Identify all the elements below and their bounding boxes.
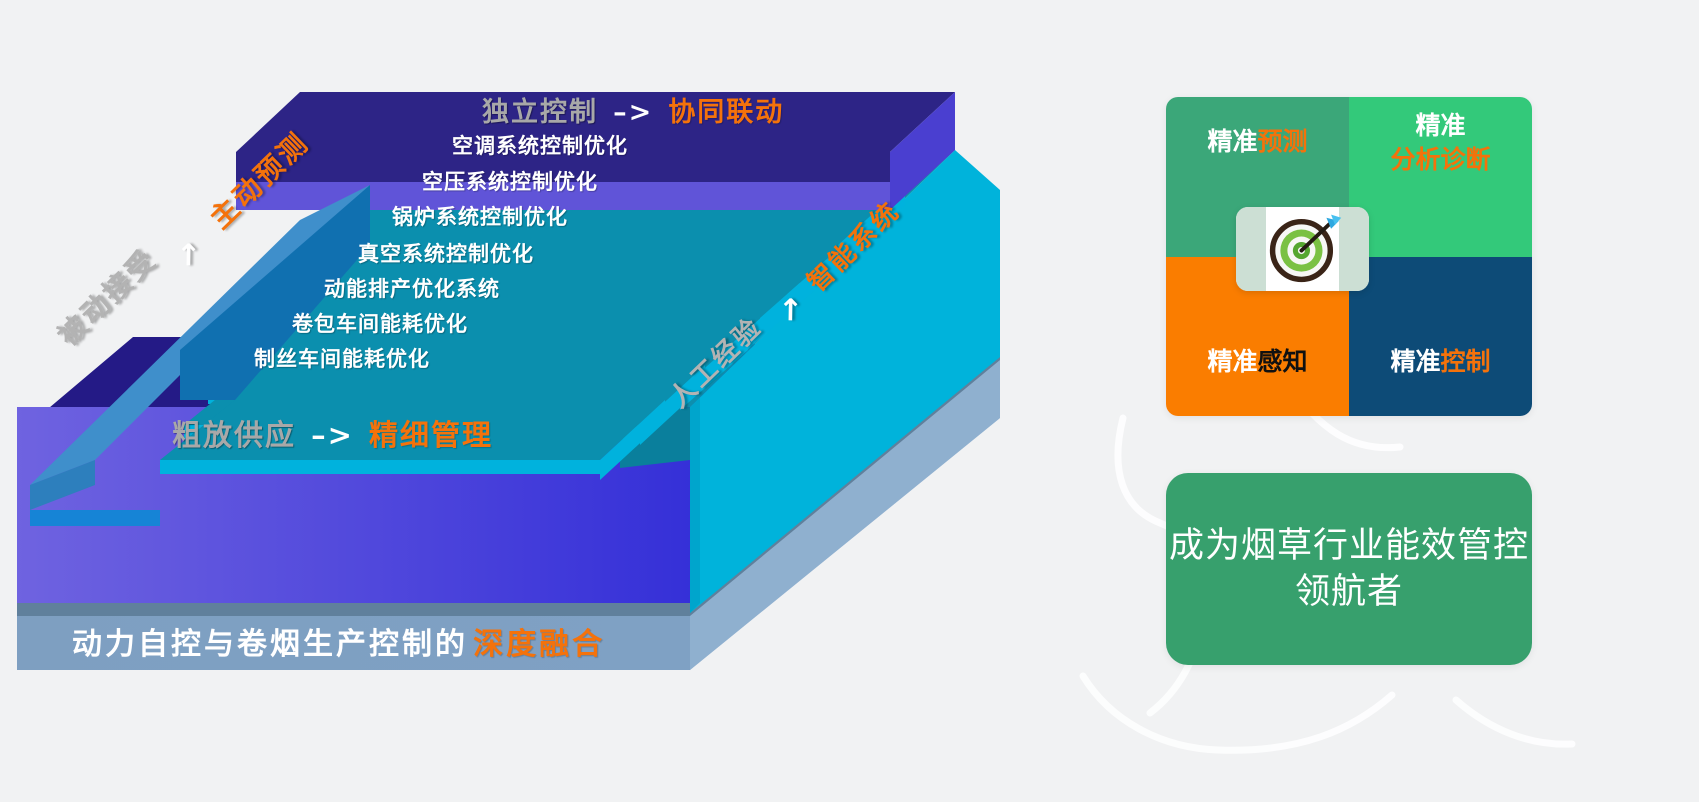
quadrant-cell-precise-analysis[interactable]: 精准 分析诊断 <box>1349 97 1532 257</box>
top-banner-part2: 协同联动 <box>668 97 784 128</box>
mid-slab-part1: 粗放供应 <box>172 418 296 452</box>
target-icon-chip <box>1236 207 1369 291</box>
mid-slab-part2: 精细管理 <box>369 418 493 452</box>
base-slab-text: 动力自控与卷烟生产控制的 深度融合 <box>72 619 605 663</box>
q4-text-white: 精准 <box>1390 347 1440 376</box>
chip-right-pad <box>1339 207 1369 291</box>
q3-text-white: 精准 <box>1207 347 1257 376</box>
stair-label-1: 空调系统控制优化 <box>452 130 628 160</box>
quadrant-label-precise-control: 精准控制 <box>1390 257 1490 379</box>
top-banner-arrow: –> <box>613 97 653 128</box>
stair-label-4: 真空系统控制优化 <box>358 238 534 268</box>
stair-label-6: 卷包车间能耗优化 <box>292 308 468 338</box>
stair-label-5: 动能排产优化系统 <box>324 273 500 303</box>
mid-slab-text: 粗放供应 –> 精细管理 <box>172 412 493 454</box>
mid-slab-arrow: –> <box>311 418 354 452</box>
slide-canvas: 空调系统控制优化 空压系统控制优化 锅炉系统控制优化 真空系统控制优化 动能排产… <box>0 0 1699 802</box>
base-slab-part2: 深度融合 <box>473 627 605 662</box>
stair-label-7: 制丝车间能耗优化 <box>254 343 430 373</box>
q1-text-orange: 预测 <box>1258 127 1308 156</box>
q2-text-white: 精准 <box>1415 111 1465 140</box>
isometric-staircase-diagram: 空调系统控制优化 空压系统控制优化 锅炉系统控制优化 真空系统控制优化 动能排产… <box>0 60 1060 740</box>
base-slab-part1: 动力自控与卷烟生产控制的 <box>72 627 468 662</box>
q1-text-white: 精准 <box>1207 127 1257 156</box>
q4-text-orange: 控制 <box>1441 347 1491 376</box>
top-banner-part1: 独立控制 <box>482 97 598 128</box>
top-banner-text: 独立控制 –> 协同联动 <box>482 90 784 129</box>
stair-label-3: 锅炉系统控制优化 <box>392 201 568 231</box>
quadrant-label-precise-analysis: 精准 分析诊断 <box>1390 97 1490 177</box>
vision-text: 成为烟草行业能效管控 领航者 <box>1169 523 1529 615</box>
q2-text-orange: 分析诊断 <box>1390 145 1490 174</box>
q3-text-black: 感知 <box>1258 347 1308 376</box>
quadrant-label-precise-prediction: 精准预测 <box>1207 97 1307 159</box>
quadrant-cell-precise-control[interactable]: 精准控制 <box>1349 257 1532 417</box>
chip-left-pad <box>1236 207 1266 291</box>
target-bullseye-arrow-icon <box>1264 210 1342 288</box>
stair-label-2: 空压系统控制优化 <box>422 166 598 196</box>
vision-card[interactable]: 成为烟草行业能效管控 领航者 <box>1166 473 1532 665</box>
